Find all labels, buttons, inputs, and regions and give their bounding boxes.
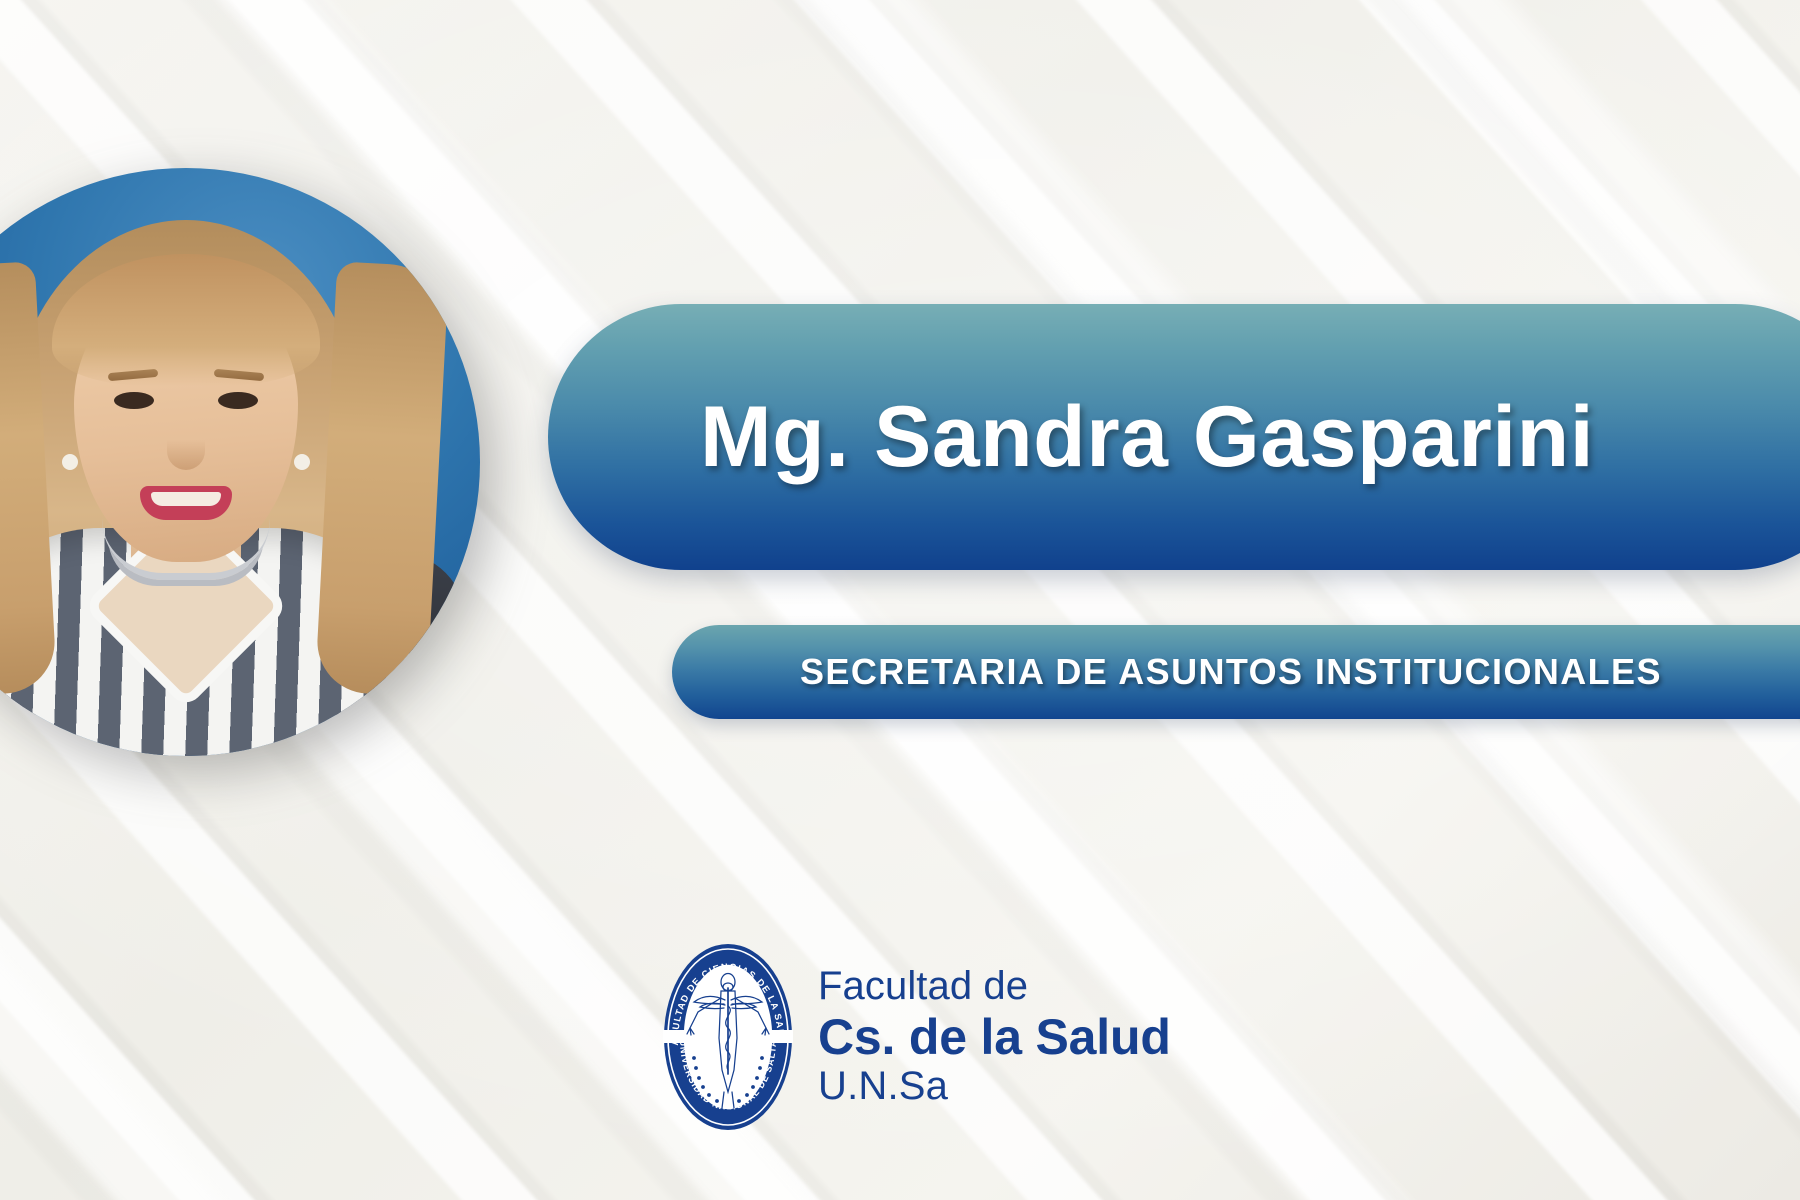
- portrait-eye-right: [218, 392, 258, 409]
- person-role: SECRETARIA DE ASUNTOS INSTITUCIONALES: [800, 651, 1662, 693]
- portrait-teeth: [151, 492, 221, 506]
- person-name: Mg. Sandra Gasparini: [700, 388, 1594, 487]
- university-seal-icon: FACULTAD DE CIENCIAS DE LA SALUD UNIVERS…: [662, 942, 794, 1132]
- role-banner: SECRETARIA DE ASUNTOS INSTITUCIONALES: [672, 625, 1800, 719]
- faculty-logo: FACULTAD DE CIENCIAS DE LA SALUD UNIVERS…: [662, 942, 1171, 1132]
- slide-canvas: Mg. Sandra Gasparini SECRETARIA DE ASUNT…: [0, 0, 1800, 1200]
- name-banner: Mg. Sandra Gasparini: [548, 304, 1800, 570]
- logo-line-faculty-name: Cs. de la Salud: [818, 1011, 1171, 1063]
- faculty-logo-text: Facultad de Cs. de la Salud U.N.Sa: [818, 966, 1171, 1107]
- logo-line-university: U.N.Sa: [818, 1066, 1171, 1108]
- portrait-earring-right: [294, 454, 310, 470]
- portrait-earring-left: [62, 454, 78, 470]
- portrait-eye-left: [114, 392, 154, 409]
- logo-line-facultad: Facultad de: [818, 966, 1171, 1008]
- portrait-hair-right: [315, 261, 449, 696]
